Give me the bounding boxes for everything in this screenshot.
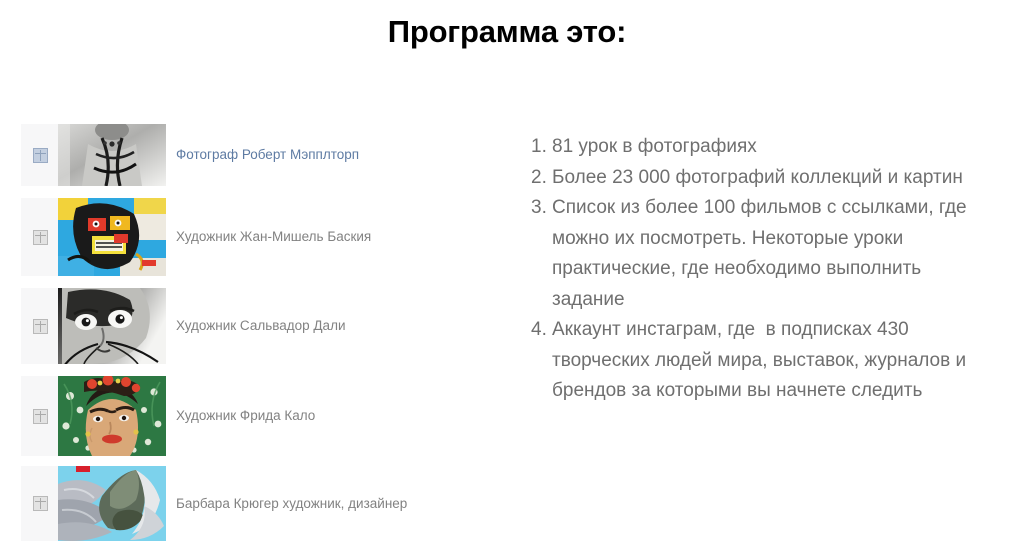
- list-item-label[interactable]: Барбара Крюгер художник, дизайнер: [176, 495, 407, 513]
- feature-marker: 4.: [531, 315, 550, 346]
- thumbnail-image[interactable]: [58, 198, 166, 276]
- feature-list-item: 3. Список из более 100 фильмов с ссылкам…: [531, 193, 991, 315]
- feature-text: Более 23 000 фотографий коллекций и карт…: [552, 163, 991, 194]
- page-title: Программа это:: [0, 14, 1014, 50]
- feature-list-item: 1. 81 урок в фотографиях: [531, 132, 991, 163]
- feature-marker: 1.: [531, 132, 550, 163]
- broken-image-icon: [33, 230, 48, 245]
- broken-image-icon: [33, 496, 48, 511]
- feature-list-item: 4. Аккаунт инстаграм, где в подписках 43…: [531, 315, 991, 407]
- thumbnail-block: [21, 198, 166, 276]
- feature-text: Аккаунт инстаграм, где в подписках 430 т…: [552, 315, 991, 407]
- thumbnail-artwork: [58, 124, 166, 186]
- thumbnail-image[interactable]: [58, 124, 166, 186]
- feature-marker: 3.: [531, 193, 550, 224]
- thumbnail-block: [21, 288, 166, 364]
- thumbnail-artwork: [58, 376, 166, 456]
- thumbnail-block: [21, 376, 166, 456]
- list-item-label[interactable]: Художник Фрида Кало: [176, 407, 315, 425]
- features-list: 1. 81 урок в фотографиях 2. Более 23 000…: [531, 132, 991, 407]
- list-item[interactable]: Художник Сальвадор Дали: [21, 288, 501, 364]
- feature-list-item: 2. Более 23 000 фотографий коллекций и к…: [531, 163, 991, 194]
- feature-text: 81 урок в фотографиях: [552, 132, 991, 163]
- list-item[interactable]: Художник Фрида Кало: [21, 376, 501, 456]
- list-item[interactable]: Художник Жан-Мишель Баския: [21, 198, 501, 276]
- list-item-label[interactable]: Художник Сальвадор Дали: [176, 317, 346, 335]
- list-item-label[interactable]: Художник Жан-Мишель Баския: [176, 228, 371, 246]
- broken-image-icon: [33, 148, 48, 163]
- list-item[interactable]: Фотограф Роберт Мэпплторп: [21, 124, 501, 186]
- broken-image-icon: [33, 409, 48, 424]
- broken-image-icon: [33, 319, 48, 334]
- thumbnail-artwork: [58, 198, 166, 276]
- thumbnail-artwork: [58, 288, 166, 364]
- thumbnail-image[interactable]: [58, 376, 166, 456]
- feature-marker: 2.: [531, 163, 550, 194]
- thumbnail-image[interactable]: [58, 288, 166, 364]
- list-item-label[interactable]: Фотограф Роберт Мэпплторп: [176, 146, 359, 164]
- gallery-list: Фотограф Роберт Мэпплторп: [0, 110, 500, 530]
- thumbnail-block: [21, 124, 166, 186]
- feature-text: Список из более 100 фильмов с ссылками, …: [552, 193, 991, 315]
- content-area: Фотограф Роберт Мэпплторп: [0, 110, 1014, 530]
